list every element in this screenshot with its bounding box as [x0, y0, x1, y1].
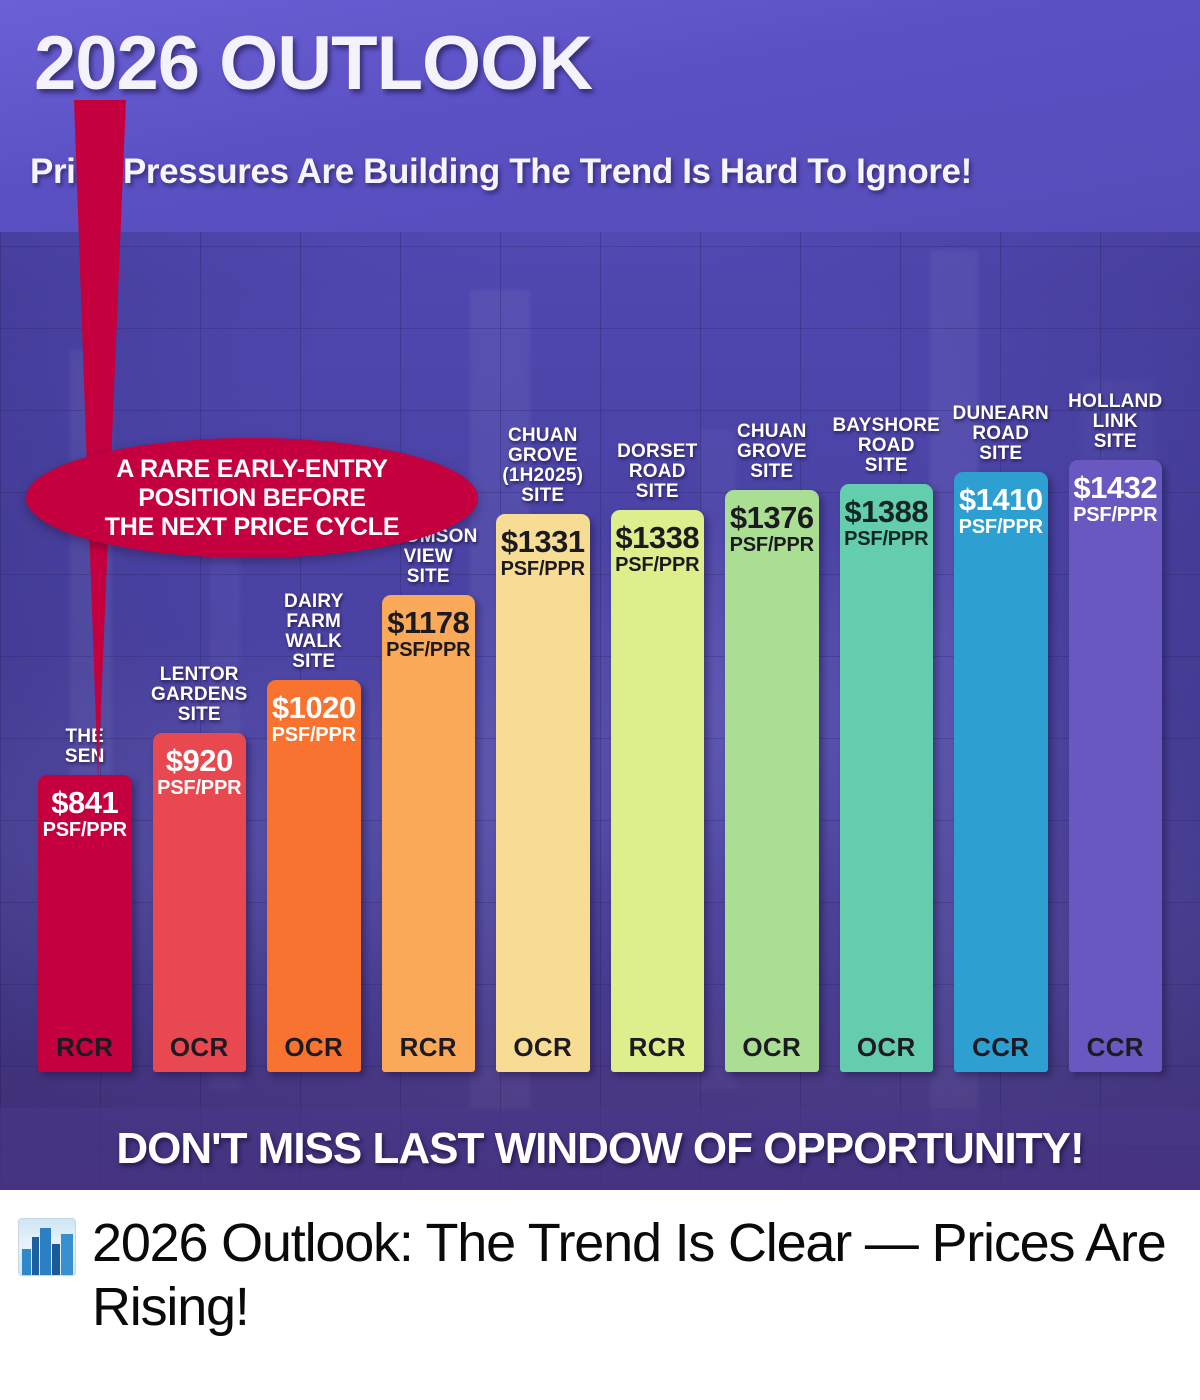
bar-price-unit: PSF/PPR	[267, 725, 361, 745]
bar-site-label: LENTOR GARDENS SITE	[141, 665, 259, 725]
bar-price-label: $1432PSF/PPR	[1069, 472, 1163, 525]
bar-price-amount: $1388	[840, 496, 934, 527]
bar-region-label: RCR	[382, 1032, 476, 1063]
bar-region-label: OCR	[153, 1032, 247, 1063]
bar-rect[interactable]: $1178PSF/PPRRCR	[382, 595, 476, 1072]
bar-price-amount: $920	[153, 745, 247, 776]
cityscape-emoji-icon	[18, 1218, 76, 1276]
bar-column: THE SEN$841PSF/PPRRCR	[38, 775, 132, 1072]
bar-price-label: $1410PSF/PPR	[954, 484, 1048, 537]
bar-price-amount: $1331	[496, 526, 590, 557]
bar-price-label: $1388PSF/PPR	[840, 496, 934, 549]
bar-price-amount: $1020	[267, 692, 361, 723]
bar-region-label: RCR	[611, 1032, 705, 1063]
bar-rect[interactable]: $1388PSF/PPROCR	[840, 484, 934, 1072]
bar-site-label: CHUAN GROVE (1H2025) SITE	[484, 426, 602, 507]
bar-price-amount: $841	[38, 787, 132, 818]
bar-column: BAYSHORE ROAD SITE$1388PSF/PPROCR	[840, 484, 934, 1072]
bar-site-label: DUNEARN ROAD SITE	[942, 404, 1060, 464]
bar-price-unit: PSF/PPR	[38, 820, 132, 840]
bar-rect[interactable]: $1338PSF/PPRRCR	[611, 510, 705, 1072]
callout-bubble: A RARE EARLY-ENTRY POSITION BEFORE THE N…	[26, 438, 478, 558]
footer-banner: DON'T MISS LAST WINDOW OF OPPORTUNITY!	[0, 1108, 1200, 1190]
bar-price-amount: $1178	[382, 607, 476, 638]
bar-column: CHUAN GROVE (1H2025) SITE$1331PSF/PPROCR	[496, 514, 590, 1072]
bar-price-unit: PSF/PPR	[840, 529, 934, 549]
bar-region-label: OCR	[725, 1032, 819, 1063]
bar-price-unit: PSF/PPR	[496, 559, 590, 579]
bar-rect[interactable]: $841PSF/PPRRCR	[38, 775, 132, 1072]
bar-rect[interactable]: $920PSF/PPROCR	[153, 733, 247, 1072]
bar-rect[interactable]: $1331PSF/PPROCR	[496, 514, 590, 1072]
bar-region-label: CCR	[1069, 1032, 1163, 1063]
bar-price-label: $920PSF/PPR	[153, 745, 247, 798]
bar-site-label: BAYSHORE ROAD SITE	[828, 416, 946, 476]
bar-price-amount: $1432	[1069, 472, 1163, 503]
bar-site-label: HOLLAND LINK SITE	[1057, 392, 1175, 452]
bar-price-unit: PSF/PPR	[382, 640, 476, 660]
bar-region-label: RCR	[38, 1032, 132, 1063]
bar-region-label: OCR	[496, 1032, 590, 1063]
bar-region-label: CCR	[954, 1032, 1048, 1063]
bar-site-label: DORSET ROAD SITE	[599, 442, 717, 502]
bar-region-label: OCR	[840, 1032, 934, 1063]
bar-column: DUNEARN ROAD SITE$1410PSF/PPRCCR	[954, 472, 1048, 1072]
bar-price-unit: PSF/PPR	[611, 555, 705, 575]
caption-line: 2026 Outlook: The Trend Is Clear — Price…	[18, 1212, 1182, 1339]
callout-bubble-shape: A RARE EARLY-ENTRY POSITION BEFORE THE N…	[26, 438, 478, 558]
bar-price-unit: PSF/PPR	[725, 535, 819, 555]
bar-region-label: OCR	[267, 1032, 361, 1063]
bar-column: CHUAN GROVE SITE$1376PSF/PPROCR	[725, 490, 819, 1072]
infographic-card: 2026 OUTLOOK Price Pressures Are Buildin…	[0, 0, 1200, 1190]
bar-price-amount: $1338	[611, 522, 705, 553]
footer-banner-text: DON'T MISS LAST WINDOW OF OPPORTUNITY!	[116, 1124, 1083, 1174]
bar-price-label: $1331PSF/PPR	[496, 526, 590, 579]
caption-text: 2026 Outlook: The Trend Is Clear — Price…	[92, 1212, 1182, 1339]
bar-rect[interactable]: $1432PSF/PPRCCR	[1069, 460, 1163, 1072]
bar-site-label: CHUAN GROVE SITE	[713, 422, 831, 482]
bar-price-unit: PSF/PPR	[1069, 505, 1163, 525]
bar-chart: THE SEN$841PSF/PPRRCRLENTOR GARDENS SITE…	[0, 0, 1200, 1190]
bar-price-label: $1020PSF/PPR	[267, 692, 361, 745]
bar-price-label: $1338PSF/PPR	[611, 522, 705, 575]
bar-column: THOMSON VIEW SITE$1178PSF/PPRRCR	[382, 595, 476, 1072]
bar-price-label: $841PSF/PPR	[38, 787, 132, 840]
bar-rect[interactable]: $1376PSF/PPROCR	[725, 490, 819, 1072]
bar-price-amount: $1376	[725, 502, 819, 533]
bar-price-unit: PSF/PPR	[153, 778, 247, 798]
bar-column: LENTOR GARDENS SITE$920PSF/PPROCR	[153, 733, 247, 1072]
bar-price-amount: $1410	[954, 484, 1048, 515]
callout-text: A RARE EARLY-ENTRY POSITION BEFORE THE N…	[105, 455, 400, 542]
bar-price-label: $1376PSF/PPR	[725, 502, 819, 555]
bar-column: DAIRY FARM WALK SITE$1020PSF/PPROCR	[267, 680, 361, 1072]
bar-column: HOLLAND LINK SITE$1432PSF/PPRCCR	[1069, 460, 1163, 1072]
bar-rect[interactable]: $1410PSF/PPRCCR	[954, 472, 1048, 1072]
post-caption: 2026 Outlook: The Trend Is Clear — Price…	[0, 1190, 1200, 1400]
bar-site-label: DAIRY FARM WALK SITE	[255, 592, 373, 673]
infographic-page: 2026 OUTLOOK Price Pressures Are Buildin…	[0, 0, 1200, 1400]
bar-column: DORSET ROAD SITE$1338PSF/PPRRCR	[611, 510, 705, 1072]
bar-price-label: $1178PSF/PPR	[382, 607, 476, 660]
bar-price-unit: PSF/PPR	[954, 517, 1048, 537]
bar-rect[interactable]: $1020PSF/PPROCR	[267, 680, 361, 1072]
